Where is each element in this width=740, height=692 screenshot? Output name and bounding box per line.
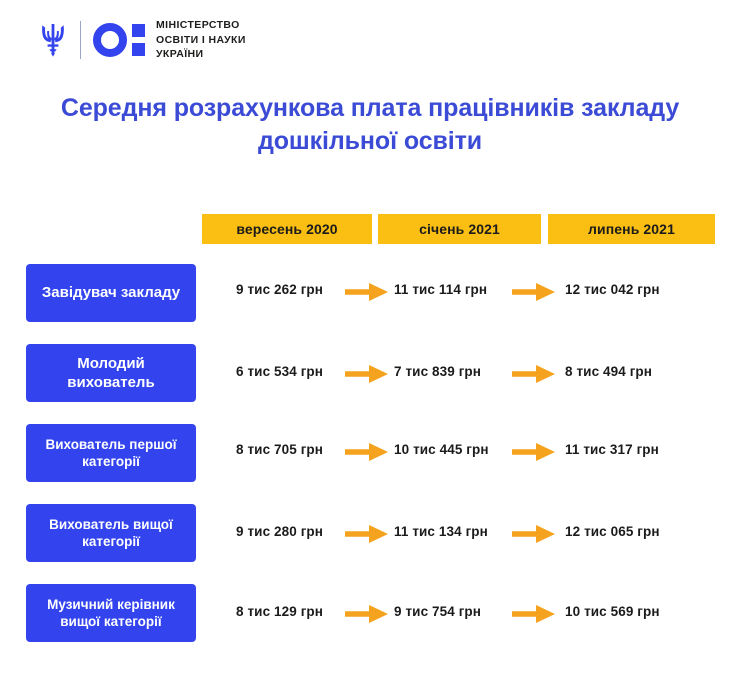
role-label-1: Молодий вихователь bbox=[26, 344, 196, 402]
value-2-1: 10 тис 445 грн bbox=[394, 442, 489, 457]
arrow-right-icon bbox=[345, 524, 389, 544]
two-squares-logo-icon bbox=[132, 24, 145, 56]
row-values-1: 6 тис 534 грн 7 тис 839 грн 8 тис 494 гр… bbox=[202, 344, 722, 402]
value-4-2: 10 тис 569 грн bbox=[565, 604, 660, 619]
ministry-line-1: МІНІСТЕРСТВО bbox=[156, 18, 246, 33]
value-2-2: 11 тис 317 грн bbox=[565, 442, 659, 457]
role-label-0: Завідувач закладу bbox=[26, 264, 196, 322]
ministry-line-3: УКРАЇНИ bbox=[156, 47, 246, 62]
arrow-right-icon bbox=[345, 282, 389, 302]
row-values-4: 8 тис 129 грн 9 тис 754 грн 10 тис 569 г… bbox=[202, 584, 722, 642]
period-header-2: липень 2021 bbox=[548, 214, 715, 244]
arrow-right-icon bbox=[512, 364, 556, 384]
value-2-0: 8 тис 705 грн bbox=[236, 442, 323, 457]
arrow-right-icon bbox=[345, 604, 389, 624]
arrow-right-icon bbox=[512, 524, 556, 544]
arrow-right-icon bbox=[345, 442, 389, 462]
role-label-3: Вихователь вищої категорії bbox=[26, 504, 196, 562]
row-values-3: 9 тис 280 грн 11 тис 134 грн 12 тис 065 … bbox=[202, 504, 722, 562]
page-title: Середня розрахункова плата працівників з… bbox=[0, 92, 740, 157]
period-header-row: вересень 2020 січень 2021 липень 2021 bbox=[0, 214, 740, 244]
arrow-right-icon bbox=[512, 442, 556, 462]
table-row: Завідувач закладу 9 тис 262 грн 11 тис 1… bbox=[0, 264, 740, 344]
value-4-1: 9 тис 754 грн bbox=[394, 604, 481, 619]
arrow-right-icon bbox=[345, 364, 389, 384]
ministry-name: МІНІСТЕРСТВО ОСВІТИ І НАУКИ УКРАЇНИ bbox=[156, 18, 246, 63]
value-3-0: 9 тис 280 грн bbox=[236, 524, 323, 539]
arrow-right-icon bbox=[512, 604, 556, 624]
value-0-2: 12 тис 042 грн bbox=[565, 282, 660, 297]
logo-divider bbox=[80, 21, 81, 59]
role-label-4: Музичний керівник вищої категорії bbox=[26, 584, 196, 642]
ministry-logo: МІНІСТЕРСТВО ОСВІТИ І НАУКИ УКРАЇНИ bbox=[40, 14, 246, 66]
mon-logo-mark bbox=[93, 23, 145, 57]
period-header-1: січень 2021 bbox=[378, 214, 541, 244]
table-row: Музичний керівник вищої категорії 8 тис … bbox=[0, 584, 740, 664]
value-3-1: 11 тис 134 грн bbox=[394, 524, 488, 539]
arrow-right-icon bbox=[512, 282, 556, 302]
ukraine-trident-icon bbox=[40, 22, 66, 58]
value-3-2: 12 тис 065 грн bbox=[565, 524, 660, 539]
value-1-2: 8 тис 494 грн bbox=[565, 364, 652, 379]
value-0-1: 11 тис 114 грн bbox=[394, 282, 487, 297]
salary-rows: Завідувач закладу 9 тис 262 грн 11 тис 1… bbox=[0, 264, 740, 664]
table-row: Молодий вихователь 6 тис 534 грн 7 тис 8… bbox=[0, 344, 740, 424]
period-header-0: вересень 2020 bbox=[202, 214, 372, 244]
circle-o-logo-icon bbox=[93, 23, 127, 57]
table-row: Вихователь першої категорії 8 тис 705 гр… bbox=[0, 424, 740, 504]
role-label-2: Вихователь першої категорії bbox=[26, 424, 196, 482]
table-row: Вихователь вищої категорії 9 тис 280 грн… bbox=[0, 504, 740, 584]
ministry-line-2: ОСВІТИ І НАУКИ bbox=[156, 33, 246, 48]
value-0-0: 9 тис 262 грн bbox=[236, 282, 323, 297]
row-values-0: 9 тис 262 грн 11 тис 114 грн 12 тис 042 … bbox=[202, 264, 722, 322]
row-values-2: 8 тис 705 грн 10 тис 445 грн 11 тис 317 … bbox=[202, 424, 722, 482]
value-4-0: 8 тис 129 грн bbox=[236, 604, 323, 619]
value-1-1: 7 тис 839 грн bbox=[394, 364, 481, 379]
value-1-0: 6 тис 534 грн bbox=[236, 364, 323, 379]
